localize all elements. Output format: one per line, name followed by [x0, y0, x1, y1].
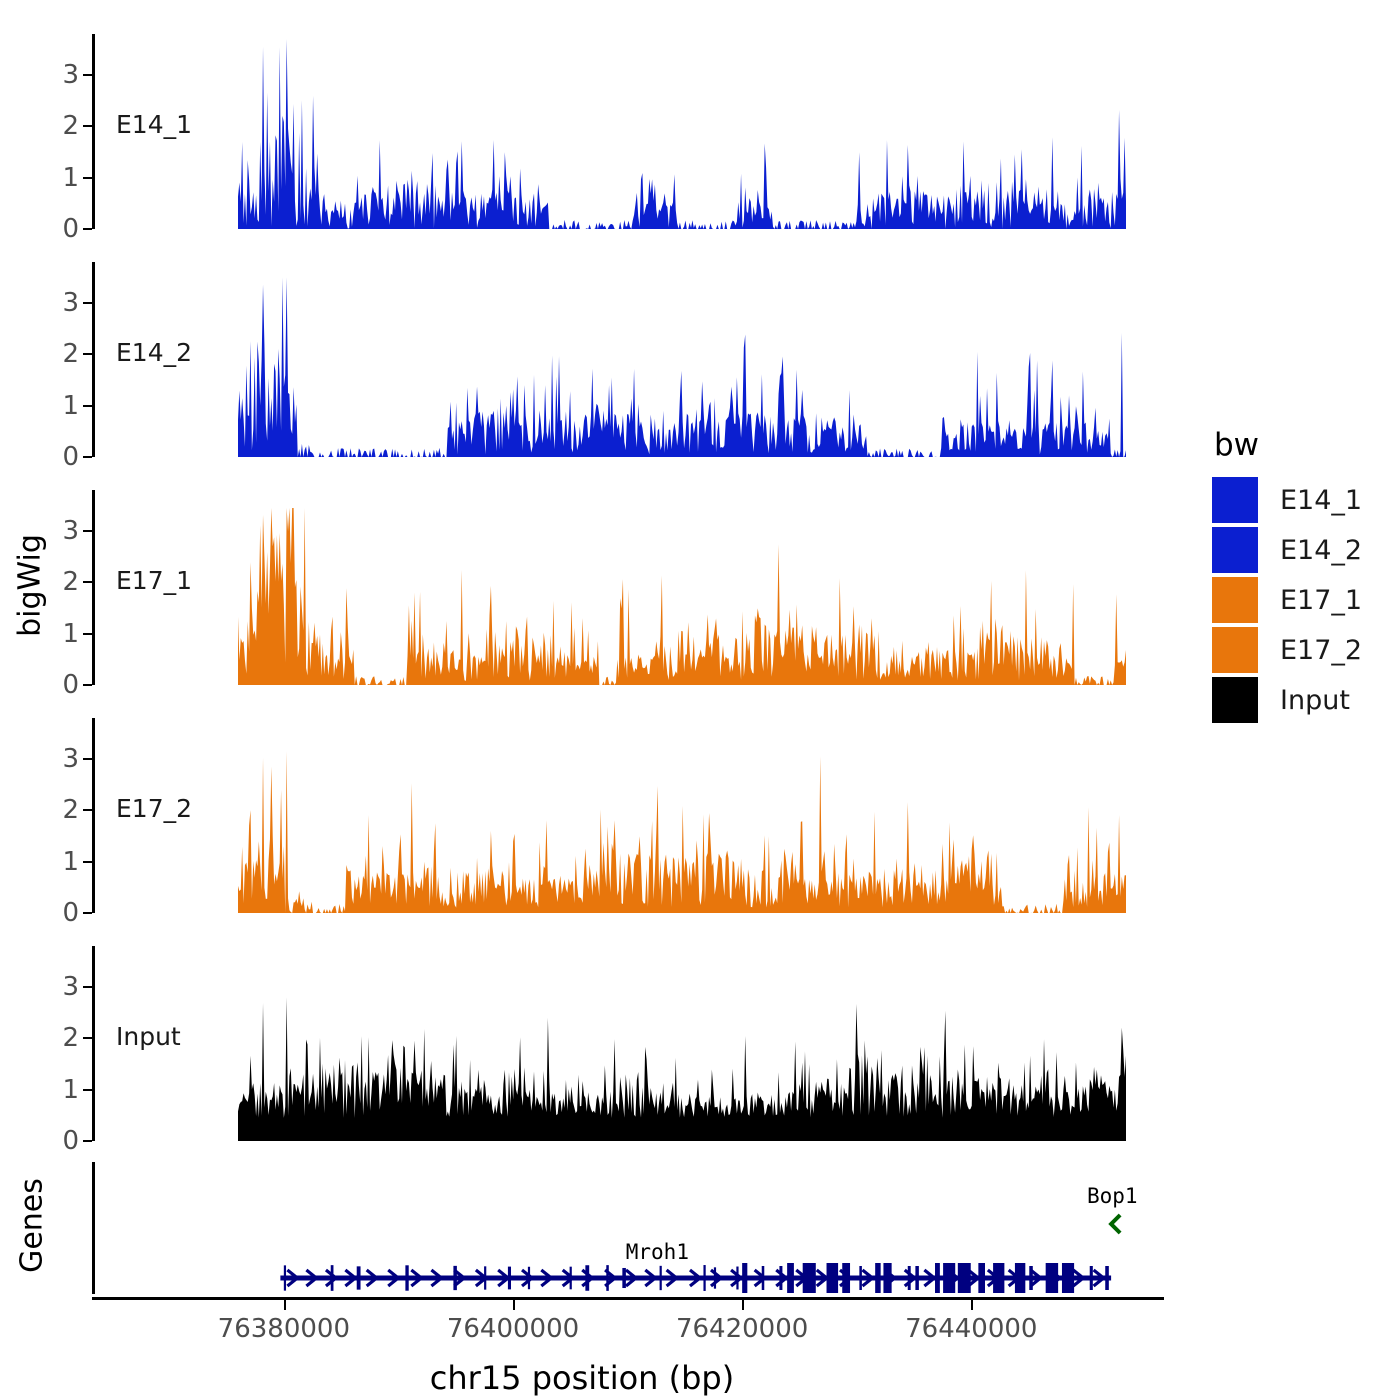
y-tick-label: 2 [62, 1023, 79, 1053]
x-axis-line [92, 1297, 1164, 1300]
y-tick [83, 809, 92, 811]
facet-label-bigwig: bigWig [13, 495, 48, 675]
y-tick [83, 912, 92, 914]
y-tick [83, 986, 92, 988]
y-tick-label: 0 [62, 442, 79, 472]
legend-label-e14_1: E14_1 [1280, 485, 1362, 516]
y-tick [83, 1037, 92, 1039]
y-tick-label: 1 [62, 391, 79, 421]
y-tick-label: 0 [62, 214, 79, 244]
legend-label-input: Input [1280, 685, 1350, 716]
y-axis-line [92, 34, 95, 229]
x-tick-label: 76440000 [905, 1314, 1037, 1344]
y-tick-label: 1 [62, 1075, 79, 1105]
gene-label-mroh1: Mroh1 [626, 1240, 689, 1264]
legend-label-e14_2: E14_2 [1280, 535, 1362, 566]
track-label-e14_2: E14_2 [116, 338, 192, 367]
y-tick [83, 302, 92, 304]
y-tick [83, 228, 92, 230]
legend-title: bw [1214, 430, 1362, 461]
legend-item-e17_1[interactable]: E17_1 [1212, 575, 1362, 625]
x-tick [742, 1300, 744, 1310]
legend-swatch-e17_1 [1212, 577, 1258, 623]
y-tick [83, 74, 92, 76]
y-tick-label: 1 [62, 163, 79, 193]
y-tick [83, 177, 92, 179]
y-tick-label: 2 [62, 795, 79, 825]
y-tick [83, 456, 92, 458]
genes-panel: Mroh1Bop1 [92, 1162, 1126, 1294]
y-tick [83, 530, 92, 532]
y-tick [83, 684, 92, 686]
x-tick-label: 76420000 [676, 1314, 808, 1344]
y-tick [83, 405, 92, 407]
x-tick [971, 1300, 973, 1310]
y-tick-label: 2 [62, 339, 79, 369]
track-panel-e14_1: 0123E14_1 [92, 34, 1126, 229]
signal-area-e17_1[interactable] [238, 490, 1126, 685]
y-tick-label: 3 [62, 744, 79, 774]
y-axis-line [92, 262, 95, 457]
x-tick [284, 1300, 286, 1310]
legend-item-e14_2[interactable]: E14_2 [1212, 525, 1362, 575]
y-tick [83, 758, 92, 760]
y-tick-label: 0 [62, 670, 79, 700]
signal-area-e14_1[interactable] [238, 34, 1126, 229]
legend-item-input[interactable]: Input [1212, 675, 1362, 725]
legend-swatch-e17_2 [1212, 627, 1258, 673]
legend-label-e17_2: E17_2 [1280, 635, 1362, 666]
track-label-input: Input [116, 1022, 181, 1051]
y-tick [83, 125, 92, 127]
x-tick-label: 76400000 [447, 1314, 579, 1344]
track-panel-e17_1: 0123E17_1 [92, 490, 1126, 685]
x-axis-title: chr15 position (bp) [0, 1359, 1164, 1397]
y-axis-line [92, 946, 95, 1141]
y-tick-label: 1 [62, 847, 79, 877]
track-label-e17_1: E17_1 [116, 566, 192, 595]
y-tick-label: 3 [62, 972, 79, 1002]
track-panel-e17_2: 0123E17_2 [92, 718, 1126, 913]
legend-swatch-e14_1 [1212, 477, 1258, 523]
genes-axis-line [92, 1162, 95, 1294]
legend-item-e14_1[interactable]: E14_1 [1212, 475, 1362, 525]
facet-label-genes: Genes [15, 1136, 50, 1316]
track-label-e14_1: E14_1 [116, 110, 192, 139]
y-tick [83, 633, 92, 635]
signal-area-e14_2[interactable] [238, 262, 1126, 457]
y-axis-line [92, 718, 95, 913]
gene-label-bop1: Bop1 [1087, 1184, 1138, 1208]
y-tick-label: 0 [62, 1126, 79, 1156]
x-tick [513, 1300, 515, 1310]
y-tick [83, 353, 92, 355]
legend-swatch-e14_2 [1212, 527, 1258, 573]
legend-items: E14_1E14_2E17_1E17_2Input [1212, 475, 1362, 725]
x-tick-label: 76380000 [218, 1314, 350, 1344]
legend-swatch-input [1212, 677, 1258, 723]
y-tick-label: 2 [62, 111, 79, 141]
genes-plot-area[interactable] [238, 1162, 1126, 1294]
track-panel-e14_2: 0123E14_2 [92, 262, 1126, 457]
track-label-e17_2: E17_2 [116, 794, 192, 823]
y-tick-label: 1 [62, 619, 79, 649]
track-panel-input: 0123Input [92, 946, 1126, 1141]
signal-area-e17_2[interactable] [238, 718, 1126, 913]
y-tick [83, 861, 92, 863]
legend-item-e17_2[interactable]: E17_2 [1212, 625, 1362, 675]
y-tick-label: 2 [62, 567, 79, 597]
signal-area-input[interactable] [238, 946, 1126, 1141]
y-axis-line [92, 490, 95, 685]
y-tick-label: 3 [62, 288, 79, 318]
y-tick-label: 3 [62, 516, 79, 546]
legend-label-e17_1: E17_1 [1280, 585, 1362, 616]
y-tick-label: 3 [62, 60, 79, 90]
y-tick [83, 1140, 92, 1142]
y-tick-label: 0 [62, 898, 79, 928]
y-tick [83, 1089, 92, 1091]
y-tick [83, 581, 92, 583]
legend: bw E14_1E14_2E17_1E17_2Input [1212, 430, 1362, 725]
